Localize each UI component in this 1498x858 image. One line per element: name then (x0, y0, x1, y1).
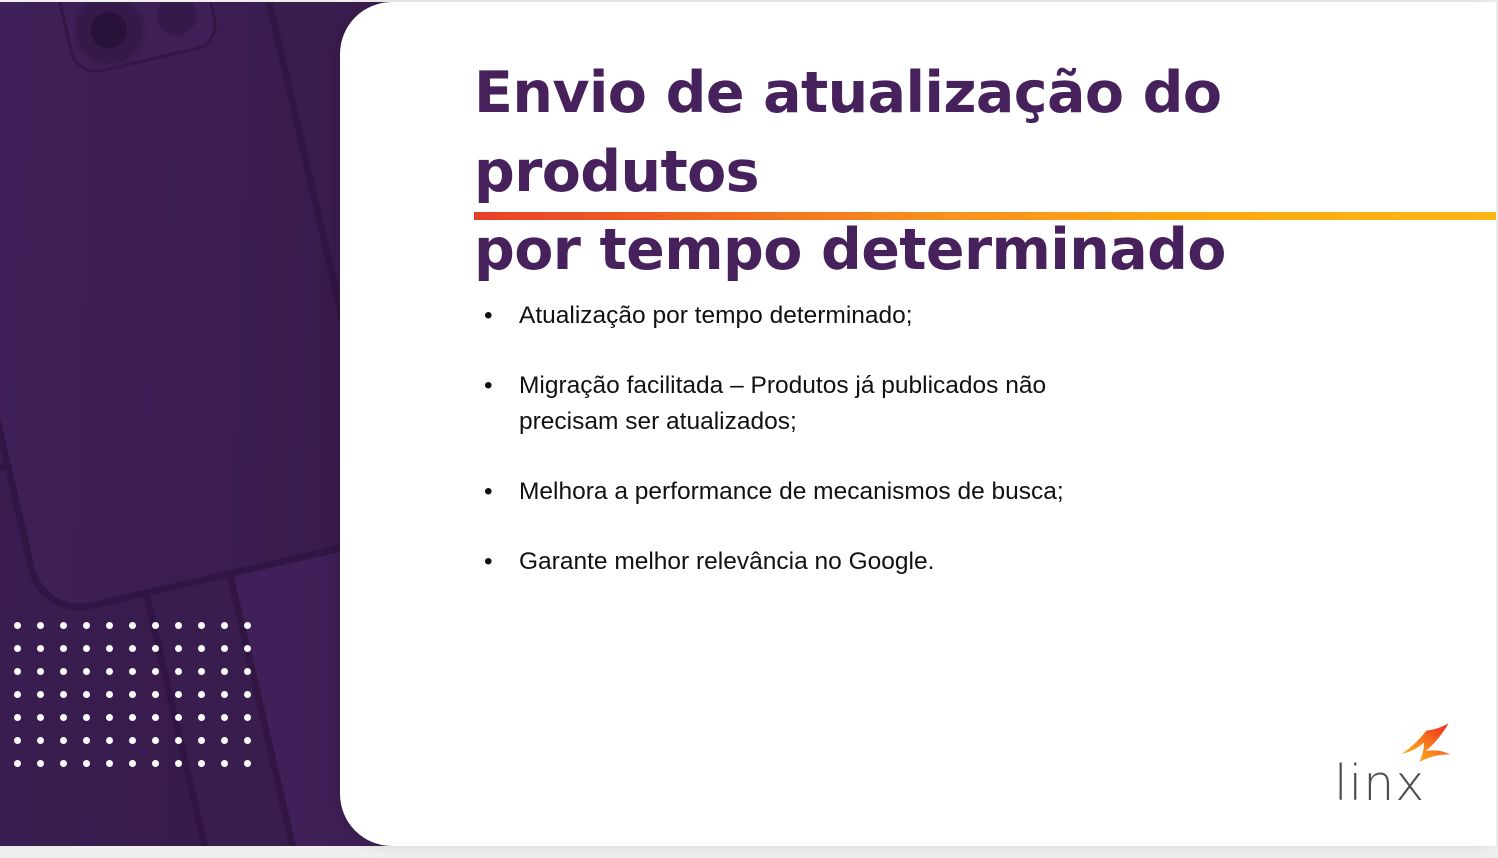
grid-dot (152, 668, 159, 675)
slide-title-line: por tempo determinado (474, 217, 1226, 283)
grid-dot (37, 691, 44, 698)
bullet-list-item: •Migração facilitada – Produtos já publi… (474, 368, 1079, 439)
grid-dot (106, 691, 113, 698)
grid-dot (37, 737, 44, 744)
grid-dot (60, 714, 67, 721)
grid-dot (83, 668, 90, 675)
grid-dot (83, 691, 90, 698)
grid-dot (129, 760, 136, 767)
grid-dot (106, 622, 113, 629)
grid-dot (60, 691, 67, 698)
camera-lens-icon (69, 2, 148, 70)
grid-dot (106, 714, 113, 721)
bullet-marker-icon: • (484, 544, 493, 579)
grid-dot (129, 714, 136, 721)
grid-dot (244, 622, 251, 629)
grid-dot (129, 668, 136, 675)
grid-dot (198, 714, 205, 721)
bullet-text: Atualização por tempo determinado; (519, 302, 913, 329)
bullet-text: Melhora a performance de mecanismos de b… (519, 478, 1064, 505)
bullet-list-item: •Melhora a performance de mecanismos de … (474, 474, 1079, 509)
grid-dot (221, 622, 228, 629)
grid-dot (37, 645, 44, 652)
grid-dot (175, 714, 182, 721)
grid-dot (152, 691, 159, 698)
grid-dot (37, 668, 44, 675)
grid-dot (175, 760, 182, 767)
grid-dot (37, 760, 44, 767)
camera-flash-icon (152, 2, 200, 40)
grid-dot (244, 737, 251, 744)
grid-dot (129, 645, 136, 652)
grid-dot (244, 691, 251, 698)
title-gradient-rule (474, 212, 1496, 220)
bullet-list-item: •Garante melhor relevância no Google. (474, 544, 1079, 579)
grid-dot (175, 645, 182, 652)
grid-dot (244, 668, 251, 675)
grid-dot (175, 737, 182, 744)
grid-dot (244, 760, 251, 767)
grid-dot (60, 622, 67, 629)
grid-dot (14, 760, 21, 767)
grid-dot (14, 714, 21, 721)
grid-dot (152, 760, 159, 767)
bullet-list: •Atualização por tempo determinado;•Migr… (474, 298, 1294, 614)
grid-dot (221, 737, 228, 744)
grid-dot (106, 737, 113, 744)
grid-dot (221, 714, 228, 721)
grid-dot (198, 645, 205, 652)
grid-dot (221, 760, 228, 767)
grid-dot (83, 760, 90, 767)
grid-dot (152, 714, 159, 721)
grid-dot (37, 714, 44, 721)
bullet-text: Garante melhor relevância no Google. (519, 548, 934, 575)
content-card: Envio de atualização do produtospor temp… (340, 2, 1496, 846)
grid-dot (83, 737, 90, 744)
grid-dot (175, 691, 182, 698)
bullet-marker-icon: • (484, 474, 493, 509)
grid-dot (198, 668, 205, 675)
grid-dot (129, 622, 136, 629)
grid-dot (14, 668, 21, 675)
grid-dot (198, 760, 205, 767)
grid-dot (221, 668, 228, 675)
grid-dot (198, 737, 205, 744)
grid-dot (106, 645, 113, 652)
grid-dot (14, 737, 21, 744)
bullet-text: Migração facilitada – Produtos já public… (519, 372, 1046, 434)
grid-dot (60, 668, 67, 675)
grid-dot (14, 622, 21, 629)
grid-dot (152, 645, 159, 652)
grid-dot (60, 737, 67, 744)
grid-dot (198, 622, 205, 629)
grid-dot (37, 622, 44, 629)
grid-dot (244, 645, 251, 652)
slide-title-line: Envio de atualização do produtos (474, 60, 1221, 205)
phone-illustration (0, 2, 388, 613)
bullet-marker-icon: • (484, 298, 493, 333)
slide-title: Envio de atualização do produtospor temp… (474, 54, 1434, 290)
grid-dot (83, 645, 90, 652)
grid-dot (152, 737, 159, 744)
phone-body (0, 2, 388, 613)
slide-canvas: Envio de atualização do produtospor temp… (0, 0, 1498, 858)
bullet-marker-icon: • (484, 368, 493, 403)
grid-dot (198, 691, 205, 698)
grid-dot (83, 714, 90, 721)
grid-dot (83, 622, 90, 629)
grid-dot (152, 622, 159, 629)
grid-dot (129, 737, 136, 744)
grid-dot (14, 645, 21, 652)
grid-dot (175, 668, 182, 675)
grid-dot (106, 668, 113, 675)
bullet-list-item: •Atualização por tempo determinado; (474, 298, 1079, 333)
grid-dot (221, 691, 228, 698)
grid-dot (221, 645, 228, 652)
grid-dot (60, 645, 67, 652)
grid-dot (129, 691, 136, 698)
grid-dot (14, 691, 21, 698)
dot-grid-decoration (14, 622, 267, 783)
grid-dot (244, 714, 251, 721)
grid-dot (175, 622, 182, 629)
grid-dot (106, 760, 113, 767)
linx-logo: linx (1334, 720, 1454, 808)
grid-dot (60, 760, 67, 767)
linx-wordmark: linx (1334, 759, 1425, 808)
